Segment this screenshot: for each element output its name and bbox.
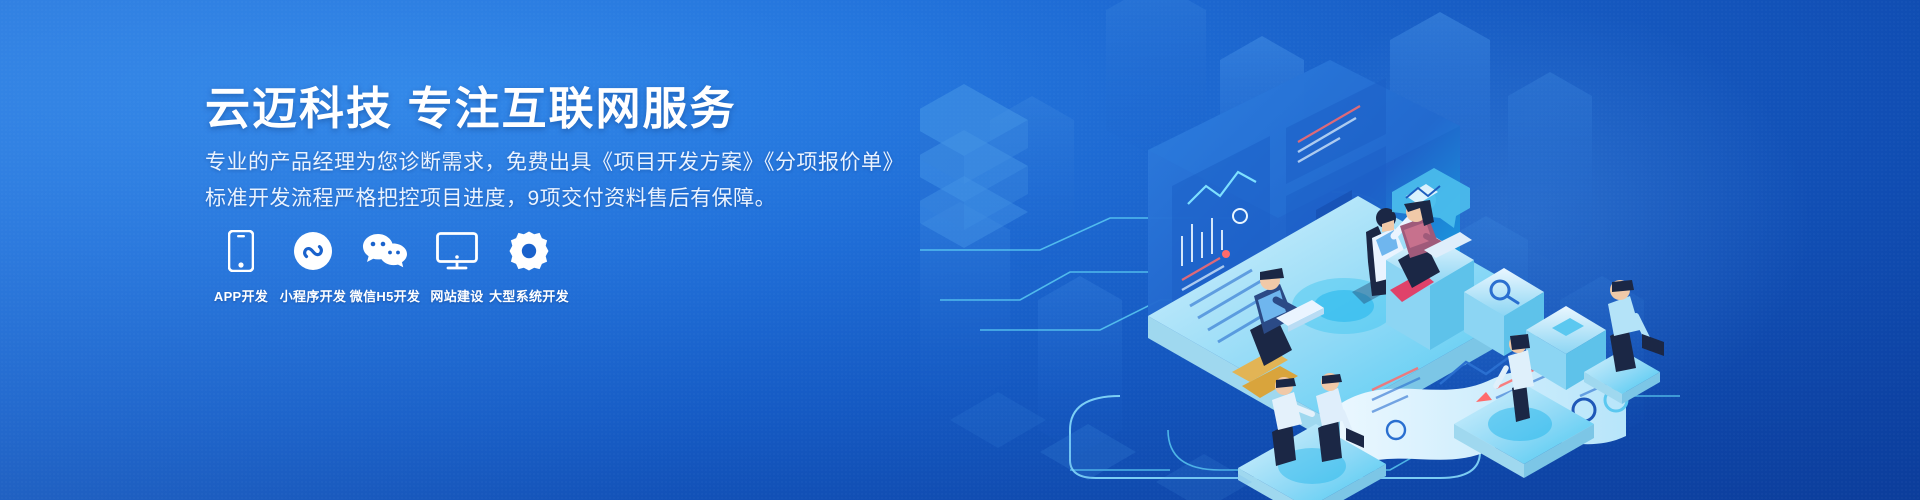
service-label: APP开发 [214,286,268,305]
service-item-wechat-h5[interactable]: 微信H5开发 [349,230,421,305]
service-list: APP开发 小程序开发 [205,230,565,305]
service-label: 大型系统开发 [489,286,569,305]
banner-content: 云迈科技 专注互联网服务 专业的产品经理为您诊断需求，免费出具《项目开发方案》《… [0,0,960,500]
isometric-tech-illustration [920,0,1920,500]
service-label: 网站建设 [430,286,483,305]
mobile-phone-icon [228,230,254,272]
gear-icon [509,230,549,272]
service-label: 微信H5开发 [350,286,420,305]
service-item-website[interactable]: 网站建设 [421,230,493,305]
mini-program-icon [293,230,333,272]
service-label: 小程序开发 [280,286,347,305]
promo-banner: 云迈科技 专注互联网服务 专业的产品经理为您诊断需求，免费出具《项目开发方案》《… [0,0,1920,500]
woman-on-pedestal-with-laptop [1386,168,1474,350]
wechat-icon [362,230,408,272]
monitor-icon [436,230,478,272]
page-title: 云迈科技 专注互联网服务 [205,72,737,137]
service-item-mini-program[interactable]: 小程序开发 [277,230,349,305]
service-item-large-system[interactable]: 大型系统开发 [493,230,565,305]
subtitle-line-2: 标准开发流程严格把控项目进度，9项交付资料售后有保障。 [205,182,776,212]
subtitle-line-1: 专业的产品经理为您诊断需求，免费出具《项目开发方案》《分项报价单》 [205,146,904,176]
service-item-app[interactable]: APP开发 [205,230,277,305]
